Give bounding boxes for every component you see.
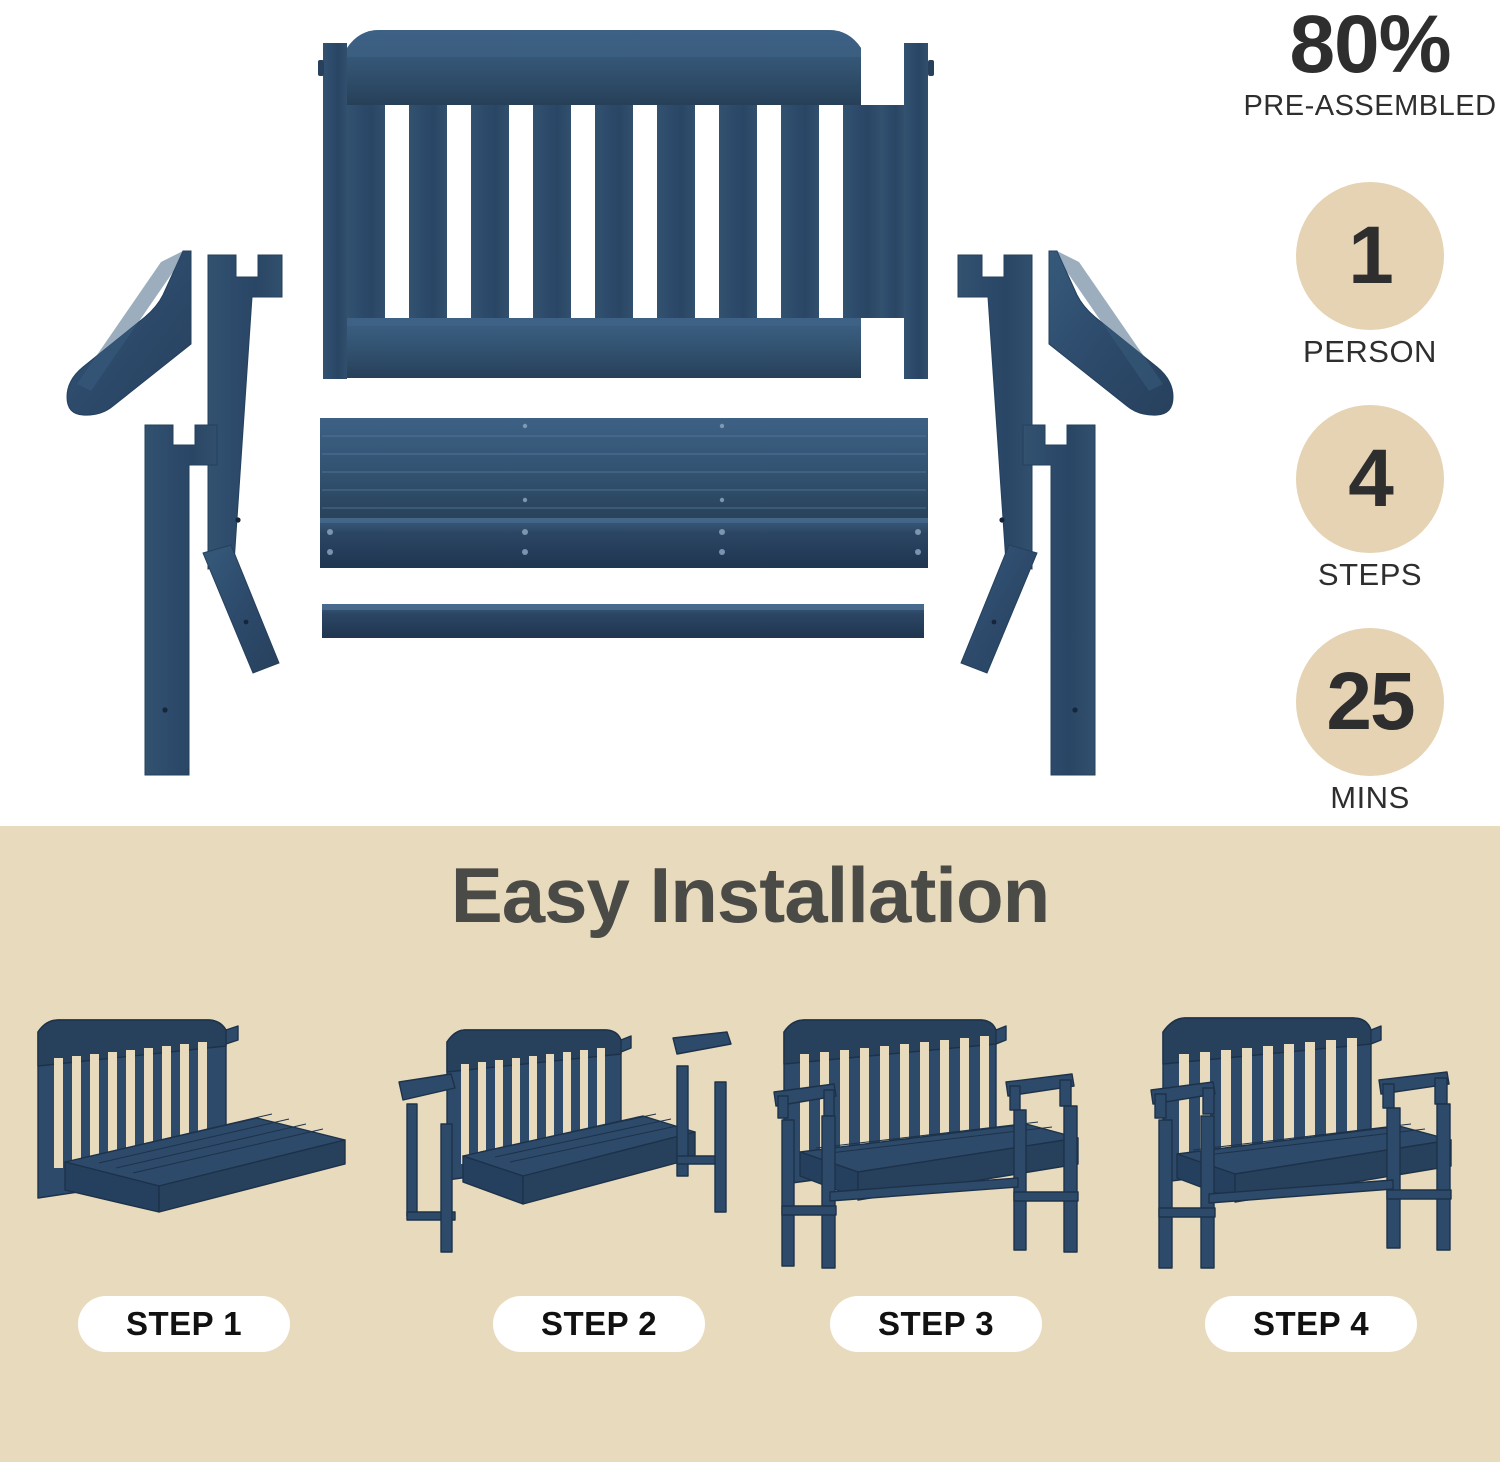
step-1-svg xyxy=(10,996,365,1286)
stat-steps-label: STEPS xyxy=(1240,557,1500,593)
stat-mins-label: MINS xyxy=(1240,780,1500,816)
exploded-parts-diagram xyxy=(0,0,1240,826)
step-4-badge[interactable]: STEP 4 xyxy=(1205,1296,1417,1352)
part-leg-front-right xyxy=(1023,425,1095,775)
part-backrest-panel xyxy=(318,30,934,379)
part-brace-left xyxy=(203,545,279,673)
step-2-figure xyxy=(385,996,740,1286)
stat-person: 1 PERSON xyxy=(1240,182,1500,370)
stat-person-label: PERSON xyxy=(1240,334,1500,370)
step-1-badge[interactable]: STEP 1 xyxy=(78,1296,290,1352)
part-front-support-rail xyxy=(322,604,924,638)
step-4-svg xyxy=(1135,996,1490,1286)
stat-steps: 4 STEPS xyxy=(1240,405,1500,593)
stat-mins-circle: 25 xyxy=(1296,628,1444,776)
stat-mins-number: 25 xyxy=(1326,661,1413,743)
part-seat-panel xyxy=(320,418,928,568)
part-armrest-left xyxy=(67,251,191,415)
step-4-figure xyxy=(1135,996,1490,1286)
part-armrest-right xyxy=(1049,251,1173,415)
part-brace-right xyxy=(961,545,1037,673)
step-badges-row: STEP 1 STEP 2 STEP 3 STEP 4 xyxy=(0,1296,1500,1362)
installation-title: Easy Installation xyxy=(0,850,1500,941)
stat-mins: 25 MINS xyxy=(1240,628,1500,816)
step-2-badge[interactable]: STEP 2 xyxy=(493,1296,705,1352)
step-1-figure xyxy=(10,996,365,1286)
step-2-svg xyxy=(385,996,740,1286)
pre-assembled-percent: 80% xyxy=(1240,6,1500,84)
step-3-badge[interactable]: STEP 3 xyxy=(830,1296,1042,1352)
stats-column: 80% PRE-ASSEMBLED 1 PERSON 4 STEPS 25 M xyxy=(1240,0,1500,826)
parts-overview-section: 80% PRE-ASSEMBLED 1 PERSON 4 STEPS 25 M xyxy=(0,0,1500,826)
installation-steps-row xyxy=(0,986,1500,1286)
stat-steps-number: 4 xyxy=(1348,438,1392,520)
parts-diagram-svg xyxy=(0,0,1240,826)
stat-person-number: 1 xyxy=(1348,215,1392,297)
pre-assembled-headline: 80% PRE-ASSEMBLED xyxy=(1240,6,1500,123)
part-leg-front-left xyxy=(145,425,217,775)
part-leg-rear-left xyxy=(208,255,282,569)
step-3-svg xyxy=(760,996,1115,1286)
step-3-figure xyxy=(760,996,1115,1286)
pre-assembled-label: PRE-ASSEMBLED xyxy=(1240,90,1500,123)
infographic-page: 80% PRE-ASSEMBLED 1 PERSON 4 STEPS 25 M xyxy=(0,0,1500,1462)
stat-steps-circle: 4 xyxy=(1296,405,1444,553)
stat-person-circle: 1 xyxy=(1296,182,1444,330)
installation-section: Easy Installation xyxy=(0,826,1500,1462)
part-leg-rear-right xyxy=(958,255,1032,569)
